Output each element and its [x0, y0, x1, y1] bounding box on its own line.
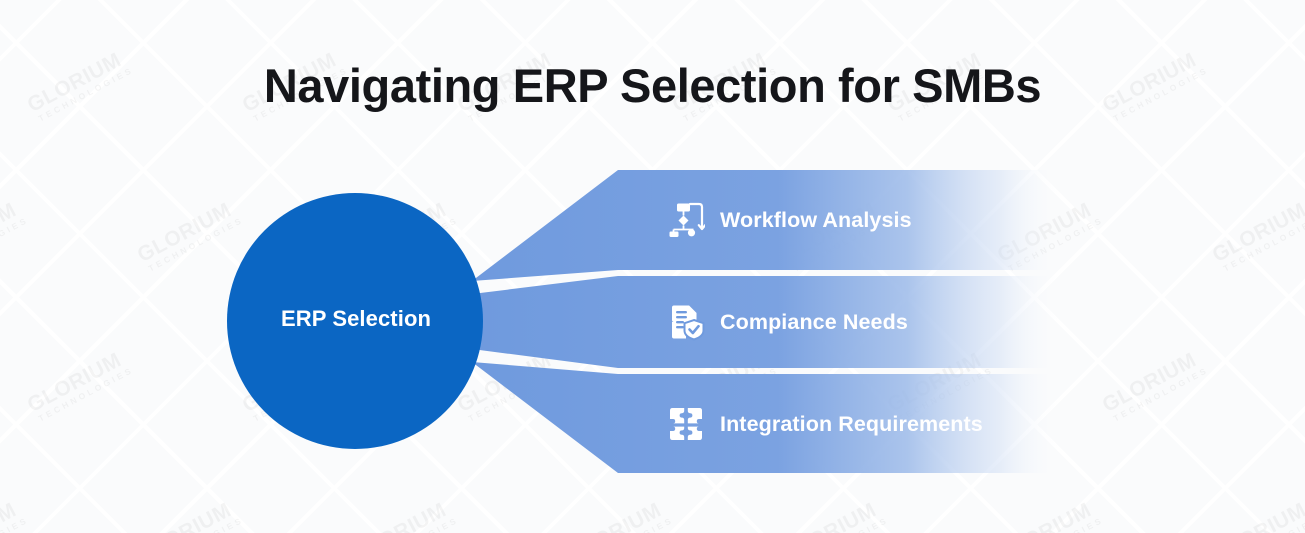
hub-label: ERP Selection: [228, 306, 484, 332]
branch-label: Integration Requirements: [720, 412, 983, 437]
infographic-canvas: GLORIUMTECHNOLOGIESGLORIUMTECHNOLOGIESGL…: [0, 0, 1305, 533]
branch-label: Workflow Analysis: [720, 208, 912, 233]
workflow-icon: [667, 201, 705, 239]
branch-row-integration-requirements[interactable]: Integration Requirements: [667, 401, 983, 447]
document-shield-check-icon: [667, 303, 705, 341]
page-title: Navigating ERP Selection for SMBs: [0, 58, 1305, 113]
branch-label: Compiance Needs: [720, 310, 908, 335]
branch-row-compiance-needs[interactable]: Compiance Needs: [667, 299, 908, 345]
branch-row-workflow-analysis[interactable]: Workflow Analysis: [667, 197, 912, 243]
puzzle-pieces-icon: [667, 405, 705, 443]
